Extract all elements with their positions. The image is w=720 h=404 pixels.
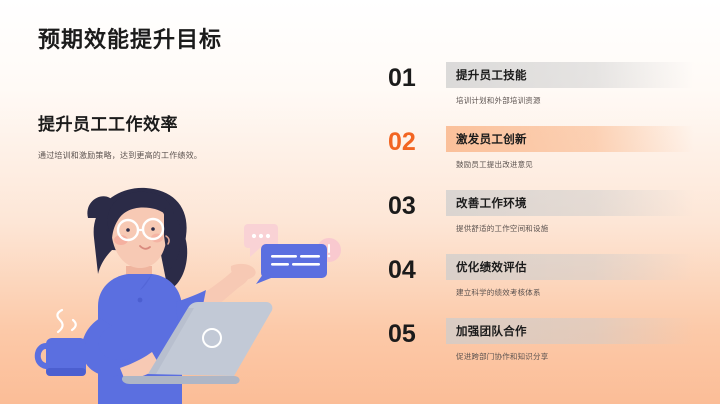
goal-body: 加强团队合作 促进跨部门协作和知识分享 [446, 318, 694, 362]
goal-title-bar: 加强团队合作 [446, 318, 694, 344]
goal-title: 改善工作环境 [456, 195, 527, 211]
goal-item-03[interactable]: 03 改善工作环境 提供舒适的工作空间和设施 [388, 190, 694, 254]
goal-item-04[interactable]: 04 优化绩效评估 建立科学的绩效考核体系 [388, 254, 694, 318]
goal-list: 01 提升员工技能 培训计划和外部培训资源 02 激发员工创新 鼓励员工提出改进… [388, 62, 694, 382]
coffee-mug-icon [38, 310, 86, 376]
goal-number: 05 [388, 322, 434, 347]
goal-body: 激发员工创新 鼓励员工提出改进意见 [446, 126, 694, 170]
goal-description: 建立科学的绩效考核体系 [456, 287, 694, 298]
goal-body: 改善工作环境 提供舒适的工作空间和设施 [446, 190, 694, 234]
page-title: 预期效能提升目标 [38, 22, 222, 54]
goal-title: 提升员工技能 [456, 67, 527, 83]
chat-bubbles-icon [244, 224, 341, 284]
goal-description: 培训计划和外部培训资源 [456, 95, 694, 106]
goal-body: 提升员工技能 培训计划和外部培训资源 [446, 62, 694, 106]
goal-title: 激发员工创新 [456, 131, 527, 147]
goal-item-05[interactable]: 05 加强团队合作 促进跨部门协作和知识分享 [388, 318, 694, 382]
goal-title: 加强团队合作 [456, 323, 527, 339]
goal-title-bar: 提升员工技能 [446, 62, 694, 88]
goal-description: 提供舒适的工作空间和设施 [456, 223, 694, 234]
goal-title-bar: 优化绩效评估 [446, 254, 694, 280]
left-panel-heading: 提升员工工作效率 [38, 110, 178, 135]
goal-number: 02 [388, 130, 434, 155]
goal-title-bar: 激发员工创新 [446, 126, 694, 152]
goal-item-01[interactable]: 01 提升员工技能 培训计划和外部培训资源 [388, 62, 694, 126]
goal-number: 03 [388, 194, 434, 219]
slide-canvas: 预期效能提升目标 提升员工工作效率 通过培训和激励策略，达到更高的工作绩效。 [0, 0, 720, 404]
goal-description: 鼓励员工提出改进意见 [456, 159, 694, 170]
woman-at-laptop-illustration [28, 178, 378, 404]
goal-item-02[interactable]: 02 激发员工创新 鼓励员工提出改进意见 [388, 126, 694, 190]
goal-number: 04 [388, 258, 434, 283]
left-panel-subtitle: 通过培训和激励策略，达到更高的工作绩效。 [38, 150, 202, 161]
goal-title-bar: 改善工作环境 [446, 190, 694, 216]
goal-title: 优化绩效评估 [456, 259, 527, 275]
goal-description: 促进跨部门协作和知识分享 [456, 351, 694, 362]
goal-number: 01 [388, 66, 434, 91]
goal-body: 优化绩效评估 建立科学的绩效考核体系 [446, 254, 694, 298]
